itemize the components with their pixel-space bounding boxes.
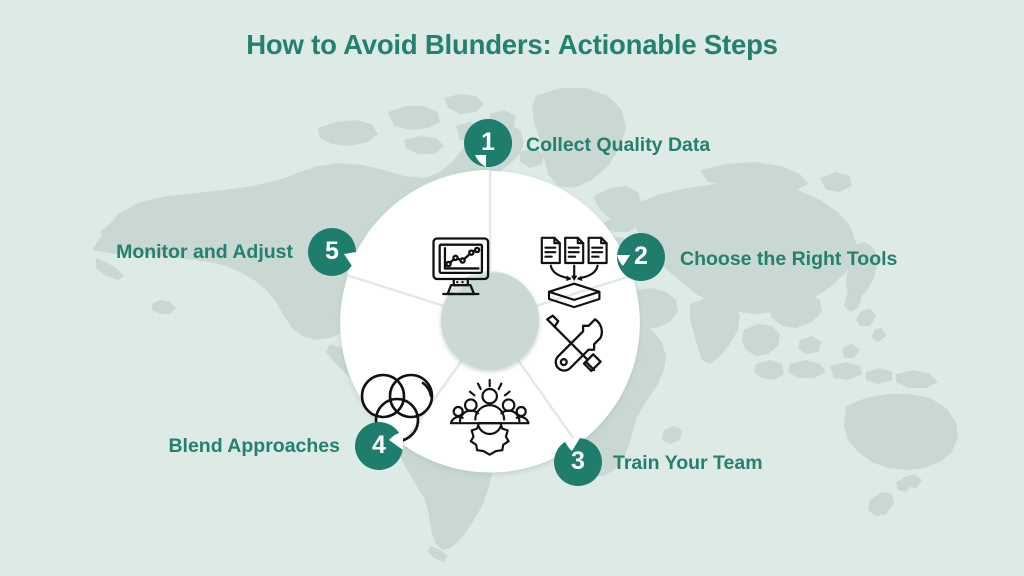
step-badge-3[interactable]: 3 bbox=[554, 438, 602, 486]
step-badge-1[interactable]: 1 bbox=[464, 119, 512, 167]
step-badge-4[interactable]: 4 bbox=[355, 422, 403, 470]
step-badge-3-number: 3 bbox=[571, 449, 585, 475]
step-label-4[interactable]: Blend Approaches bbox=[168, 437, 340, 457]
step-label-1[interactable]: Collect Quality Data bbox=[526, 136, 710, 156]
step-label-5[interactable]: Monitor and Adjust bbox=[116, 243, 293, 263]
step-badge-1-number: 1 bbox=[481, 130, 495, 156]
step-label-2[interactable]: Choose the Right Tools bbox=[680, 250, 897, 270]
page-title: How to Avoid Blunders: Actionable Steps bbox=[0, 29, 1024, 61]
step-label-3[interactable]: Train Your Team bbox=[613, 454, 763, 474]
step-badge-5-number: 5 bbox=[325, 239, 339, 265]
step-badge-2[interactable]: 2 bbox=[617, 233, 665, 281]
step-badge-4-number: 4 bbox=[372, 433, 386, 459]
step-badge-5[interactable]: 5 bbox=[308, 228, 356, 276]
step-badge-2-number: 2 bbox=[634, 244, 648, 270]
infographic-canvas: How to Avoid Blunders: Actionable Steps bbox=[0, 0, 1024, 576]
